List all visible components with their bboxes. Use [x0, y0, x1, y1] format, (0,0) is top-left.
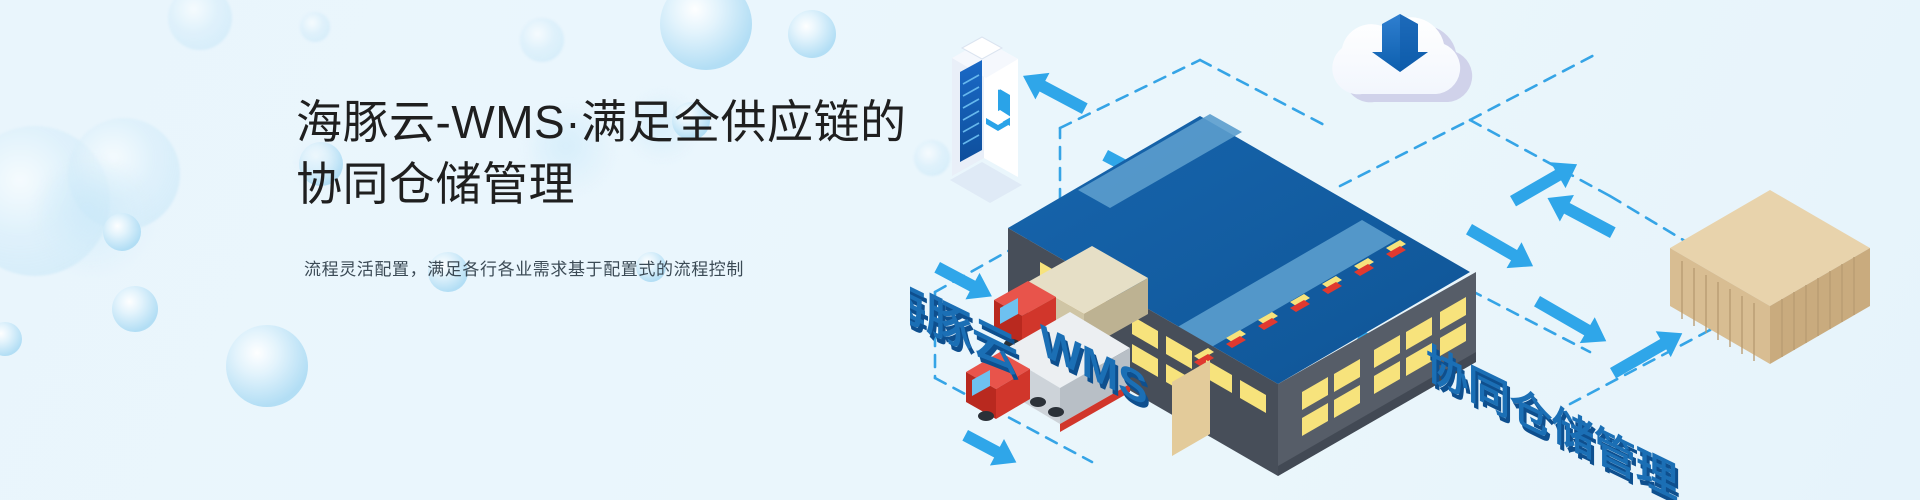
container-icon — [1670, 190, 1870, 364]
bubble-5 — [103, 213, 141, 251]
bubble-2 — [0, 126, 110, 276]
cloud-icon — [1332, 14, 1472, 102]
server-rack-icon — [950, 37, 1022, 203]
label-tagline-3d: 协同仓储管理 协同仓储管理 — [1426, 339, 1681, 500]
bubble-7 — [0, 322, 22, 356]
page-title: 海豚云-WMS·满足全供应链的 协同仓储管理 — [296, 92, 936, 215]
bubble-0 — [660, 0, 752, 70]
bubble-1 — [168, 0, 232, 50]
arrow-icon — [1016, 63, 1092, 122]
hero-banner: 海豚云-WMS·满足全供应链的 协同仓储管理 流程灵活配置，满足各行各业需求基于… — [0, 0, 1920, 500]
warehouse-illustration: 海豚云 海豚云 WMS WMS 协同仓储管理 协同仓储管理 — [910, 0, 1920, 500]
bubble-18 — [300, 12, 330, 42]
arrow-icon — [1606, 320, 1690, 386]
bubble-11 — [520, 18, 564, 62]
arrow-icon — [1462, 216, 1541, 279]
arrow-icon — [1530, 288, 1614, 354]
bubble-8 — [226, 325, 308, 407]
bubble-6 — [112, 286, 158, 332]
arrow-icon — [958, 422, 1023, 476]
bubble-3 — [68, 118, 180, 230]
bubble-4 — [38, 160, 148, 270]
page-subtitle: 流程灵活配置，满足各行各业需求基于配置式的流程控制 — [304, 255, 936, 280]
bubble-15 — [788, 10, 836, 58]
hero-copy: 海豚云-WMS·满足全供应链的 协同仓储管理 流程灵活配置，满足各行各业需求基于… — [296, 92, 936, 280]
